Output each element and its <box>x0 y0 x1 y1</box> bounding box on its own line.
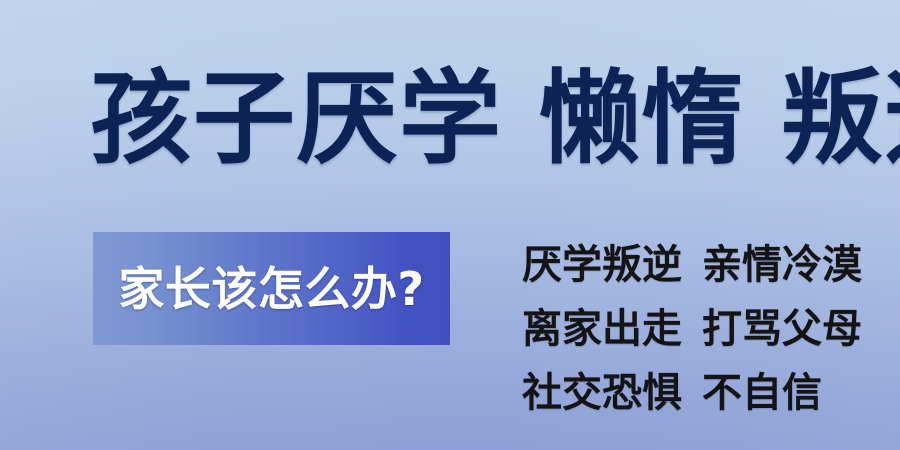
symptom-label-left: 离家出走 <box>522 297 682 361</box>
list-item: 厌学叛逆 亲情冷漠 <box>522 233 862 297</box>
call-to-action-banner: 家长该怎么办? <box>93 232 450 345</box>
symptom-label-right: 不自信 <box>702 361 822 425</box>
symptom-label-left: 厌学叛逆 <box>522 233 682 297</box>
poster-canvas: 孩子厌学 懒惰 叛逆 家长该怎么办? 厌学叛逆 亲情冷漠 离家出走 打骂父母 社… <box>0 0 900 450</box>
list-item: 社交恐惧 不自信 <box>522 361 862 425</box>
list-item: 离家出走 打骂父母 <box>522 297 862 361</box>
symptom-list: 厌学叛逆 亲情冷漠 离家出走 打骂父母 社交恐惧 不自信 <box>522 233 862 425</box>
symptom-label-right: 亲情冷漠 <box>702 233 862 297</box>
symptom-label-right: 打骂父母 <box>702 297 862 361</box>
symptom-label-left: 社交恐惧 <box>522 361 682 425</box>
page-title: 孩子厌学 懒惰 叛逆 <box>90 56 830 184</box>
banner-label: 家长该怎么办? <box>118 266 424 312</box>
